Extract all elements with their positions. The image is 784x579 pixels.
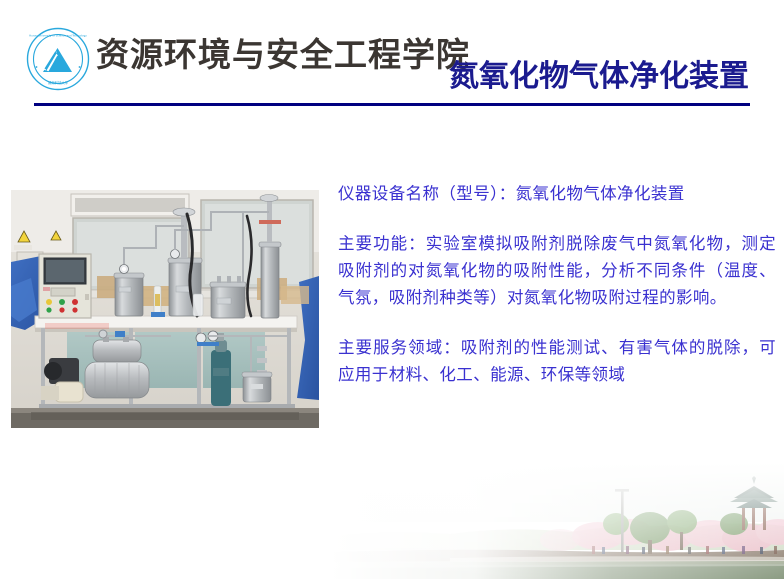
- campus-scenery-decoration: [330, 462, 784, 579]
- svg-text:Hunan University of Science an: Hunan University of Science and Technolo…: [29, 34, 87, 38]
- college-name: 资源环境与安全工程学院: [96, 33, 470, 77]
- slide-root: Hunan University of Science and Technolo…: [0, 0, 784, 579]
- paragraph-main-function: 主要功能：实验室模拟吸附剂脱除废气中氮氧化物，测定吸附剂的对氮氧化物的吸附性能，…: [338, 230, 776, 311]
- paragraph-service-areas: 主要服务领域：吸附剂的性能测试、有害气体的脱除，可应用于材料、化工、能源、环保等…: [338, 334, 776, 388]
- slide-header: Hunan University of Science and Technolo…: [0, 0, 784, 112]
- svg-text:湖南科技大学: 湖南科技大学: [48, 80, 69, 85]
- description-text-block: 仪器设备名称（型号）：氮氧化物气体净化装置 主要功能：实验室模拟吸附剂脱除废气中…: [338, 180, 776, 388]
- paragraph-device-name: 仪器设备名称（型号）：氮氧化物气体净化装置: [338, 180, 776, 207]
- header-divider: [34, 103, 750, 106]
- equipment-photo: [11, 190, 319, 428]
- university-logo-icon: Hunan University of Science and Technolo…: [26, 27, 90, 91]
- device-title: 氮氧化物气体净化装置: [449, 58, 749, 96]
